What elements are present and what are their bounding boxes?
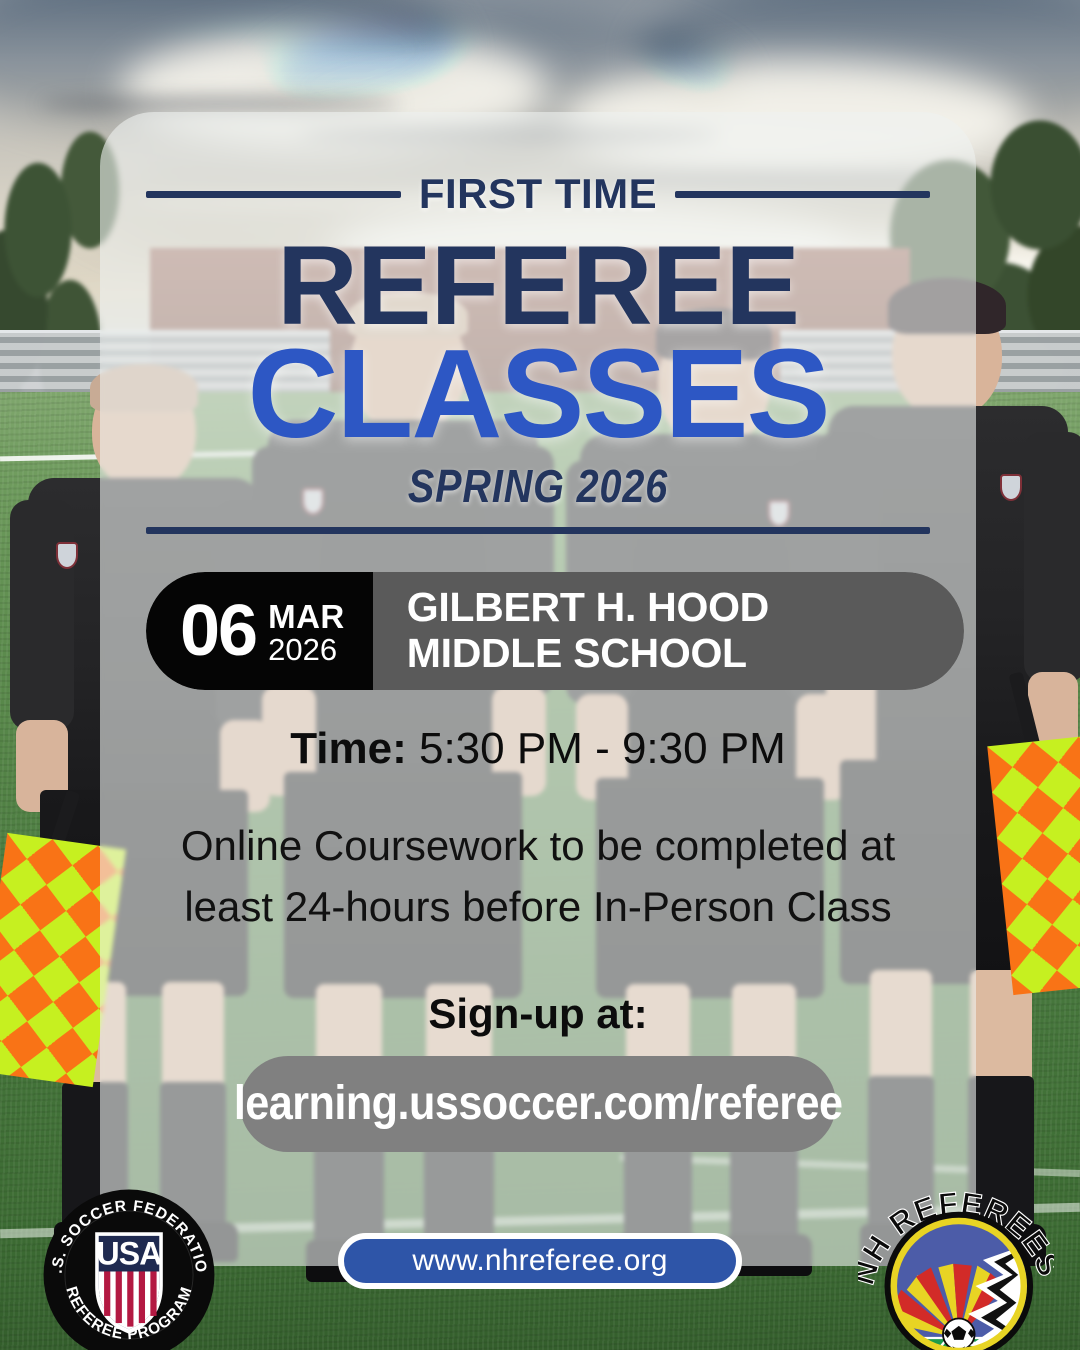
time-row: Time: 5:30 PM - 9:30 PM bbox=[146, 724, 930, 774]
date-chip: 06 MAR 2026 bbox=[146, 572, 373, 690]
usa-crest-label: USA bbox=[97, 1235, 163, 1271]
divider-under-season bbox=[146, 527, 930, 534]
venue-block: GILBERT H. HOOD MIDDLE SCHOOL bbox=[373, 572, 964, 690]
website-button[interactable]: www.nhreferee.org bbox=[338, 1233, 742, 1289]
website-button-label: www.nhreferee.org bbox=[412, 1244, 667, 1278]
venue-line-2: MIDDLE SCHOOL bbox=[407, 631, 930, 677]
date-year: 2026 bbox=[268, 634, 345, 667]
time-value: 5:30 PM - 9:30 PM bbox=[419, 724, 786, 773]
poster-canvas: FIRST TIME REFEREE CLASSES SPRING 2026 0… bbox=[0, 0, 1080, 1350]
divider-left bbox=[146, 191, 401, 198]
time-label: Time: bbox=[290, 724, 407, 773]
event-pill: 06 MAR 2026 GILBERT H. HOOD MIDDLE SCHOO… bbox=[146, 572, 964, 690]
signup-label: Sign-up at: bbox=[146, 990, 930, 1038]
ussf-referee-program-logo: U.S. SOCCER FEDERATION REFEREE PROGRAM U… bbox=[40, 1186, 218, 1350]
nh-referees-logo: NH REFEREES bbox=[858, 1182, 1054, 1350]
date-day: 06 bbox=[180, 595, 256, 667]
coursework-note-line-1: Online Coursework to be completed at bbox=[146, 816, 930, 877]
date-month: MAR bbox=[268, 600, 345, 635]
signup-url-text: learning.ussoccer.com/referee bbox=[234, 1076, 843, 1131]
flyer-card: FIRST TIME REFEREE CLASSES SPRING 2026 0… bbox=[100, 112, 976, 1266]
divider-right bbox=[675, 191, 930, 198]
coursework-note: Online Coursework to be completed at lea… bbox=[146, 816, 930, 938]
eyebrow-row: FIRST TIME bbox=[146, 170, 930, 218]
venue-line-1: GILBERT H. HOOD bbox=[407, 585, 930, 631]
signup-url-pill[interactable]: learning.ussoccer.com/referee bbox=[240, 1056, 836, 1152]
headline-classes: CLASSES bbox=[146, 334, 930, 454]
season-label: SPRING 2026 bbox=[201, 459, 875, 513]
coursework-note-line-2: least 24-hours before In-Person Class bbox=[146, 877, 930, 938]
eyebrow-label: FIRST TIME bbox=[419, 170, 657, 218]
